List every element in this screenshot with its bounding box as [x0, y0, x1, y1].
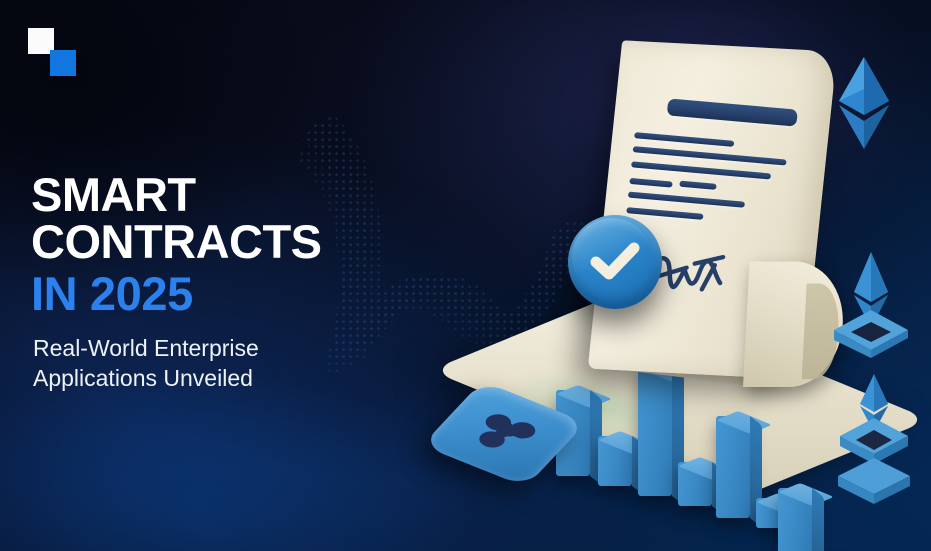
subtitle-line-1: Real-World Enterprise [33, 333, 451, 363]
document-line [631, 161, 771, 179]
chart-bar [638, 364, 672, 496]
subtitle-line-2: Applications Unveiled [33, 363, 451, 393]
headline-block: SMART CONTRACTS IN 2025 Real-World Enter… [31, 172, 451, 394]
page-subtitle: Real-World Enterprise Applications Unvei… [33, 333, 451, 394]
logo-square-blue-icon [50, 50, 76, 76]
title-accent-line: IN 2025 [31, 270, 451, 317]
document-line [626, 207, 703, 220]
banner-root: SMART CONTRACTS IN 2025 Real-World Enter… [0, 0, 931, 551]
document-text-lines [625, 99, 805, 232]
document-line [629, 178, 673, 188]
document-line [634, 132, 734, 147]
chart-bar [716, 416, 750, 518]
ethereum-on-stacked-pedestal [830, 372, 918, 504]
verified-checkmark-badge [568, 215, 662, 309]
chart-bar [598, 436, 632, 486]
chart-bar [678, 462, 712, 506]
title-line-2: CONTRACTS [31, 219, 451, 266]
chart-bar [778, 488, 812, 551]
page-title: SMART CONTRACTS IN 2025 [31, 172, 451, 317]
ethereum-diamond-floating [835, 55, 893, 151]
document-line [680, 181, 717, 190]
brand-logo[interactable] [28, 28, 76, 76]
contract-document [588, 40, 837, 379]
ethereum-on-pedestal [828, 250, 914, 360]
illustration-scene [430, 0, 931, 551]
title-line-1: SMART [31, 172, 451, 219]
